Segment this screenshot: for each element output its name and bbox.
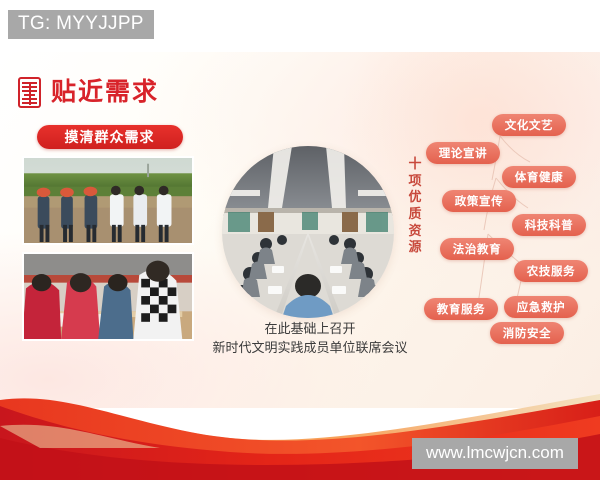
resource-badge: 理论宣讲 — [426, 142, 500, 164]
section-badge-needs: 摸清群众需求 — [37, 125, 183, 149]
slide-header: 贴近需求 — [18, 77, 159, 108]
resource-badge: 体育健康 — [502, 166, 576, 188]
vertical-char: 优 — [407, 189, 424, 206]
vertical-char: 质 — [407, 206, 424, 223]
resources-cluster: 十 项 优 质 资 源 文化文艺理论宣讲体育健康政策宣传科技科普法治教育农技服务… — [404, 114, 600, 344]
resource-badge: 科技科普 — [512, 214, 586, 236]
site-watermark: www.lmcwjcn.com — [412, 438, 578, 469]
vertical-char: 源 — [407, 239, 424, 256]
center-caption: 在此基础上召开 新时代文明实践成员单位联席会议 — [196, 320, 424, 358]
resource-badge: 应急救护 — [504, 296, 578, 318]
field-visit-photo — [22, 156, 194, 245]
vertical-char: 项 — [407, 173, 424, 190]
caption-line-1: 在此基础上召开 — [196, 320, 424, 339]
presentation-slide: 贴近需求 摸清群众需求 — [0, 52, 600, 408]
caption-line-2: 新时代文明实践成员单位联席会议 — [196, 339, 424, 358]
registration-desk-photo — [22, 252, 194, 341]
resource-badge: 法治教育 — [440, 238, 514, 260]
vertical-char: 资 — [407, 223, 424, 240]
resource-badge: 政策宣传 — [442, 190, 516, 212]
page-title: 贴近需求 — [51, 80, 159, 105]
resource-badge: 农技服务 — [514, 260, 588, 282]
conference-room-photo — [222, 146, 394, 318]
resource-badge: 消防安全 — [490, 322, 564, 344]
telegram-watermark: TG: MYYJJPP — [8, 10, 154, 39]
left-column: 摸清群众需求 — [22, 125, 197, 341]
screenshot-page: TG: MYYJJPP 贴近需求 摸清群众需求 — [0, 0, 600, 480]
vertical-char: 十 — [407, 156, 424, 173]
resource-badge: 教育服务 — [424, 298, 498, 320]
vertical-label-ten-resources: 十 项 优 质 资 源 — [407, 156, 424, 256]
red-seal-icon — [18, 77, 41, 108]
resource-badge: 文化文艺 — [492, 114, 566, 136]
